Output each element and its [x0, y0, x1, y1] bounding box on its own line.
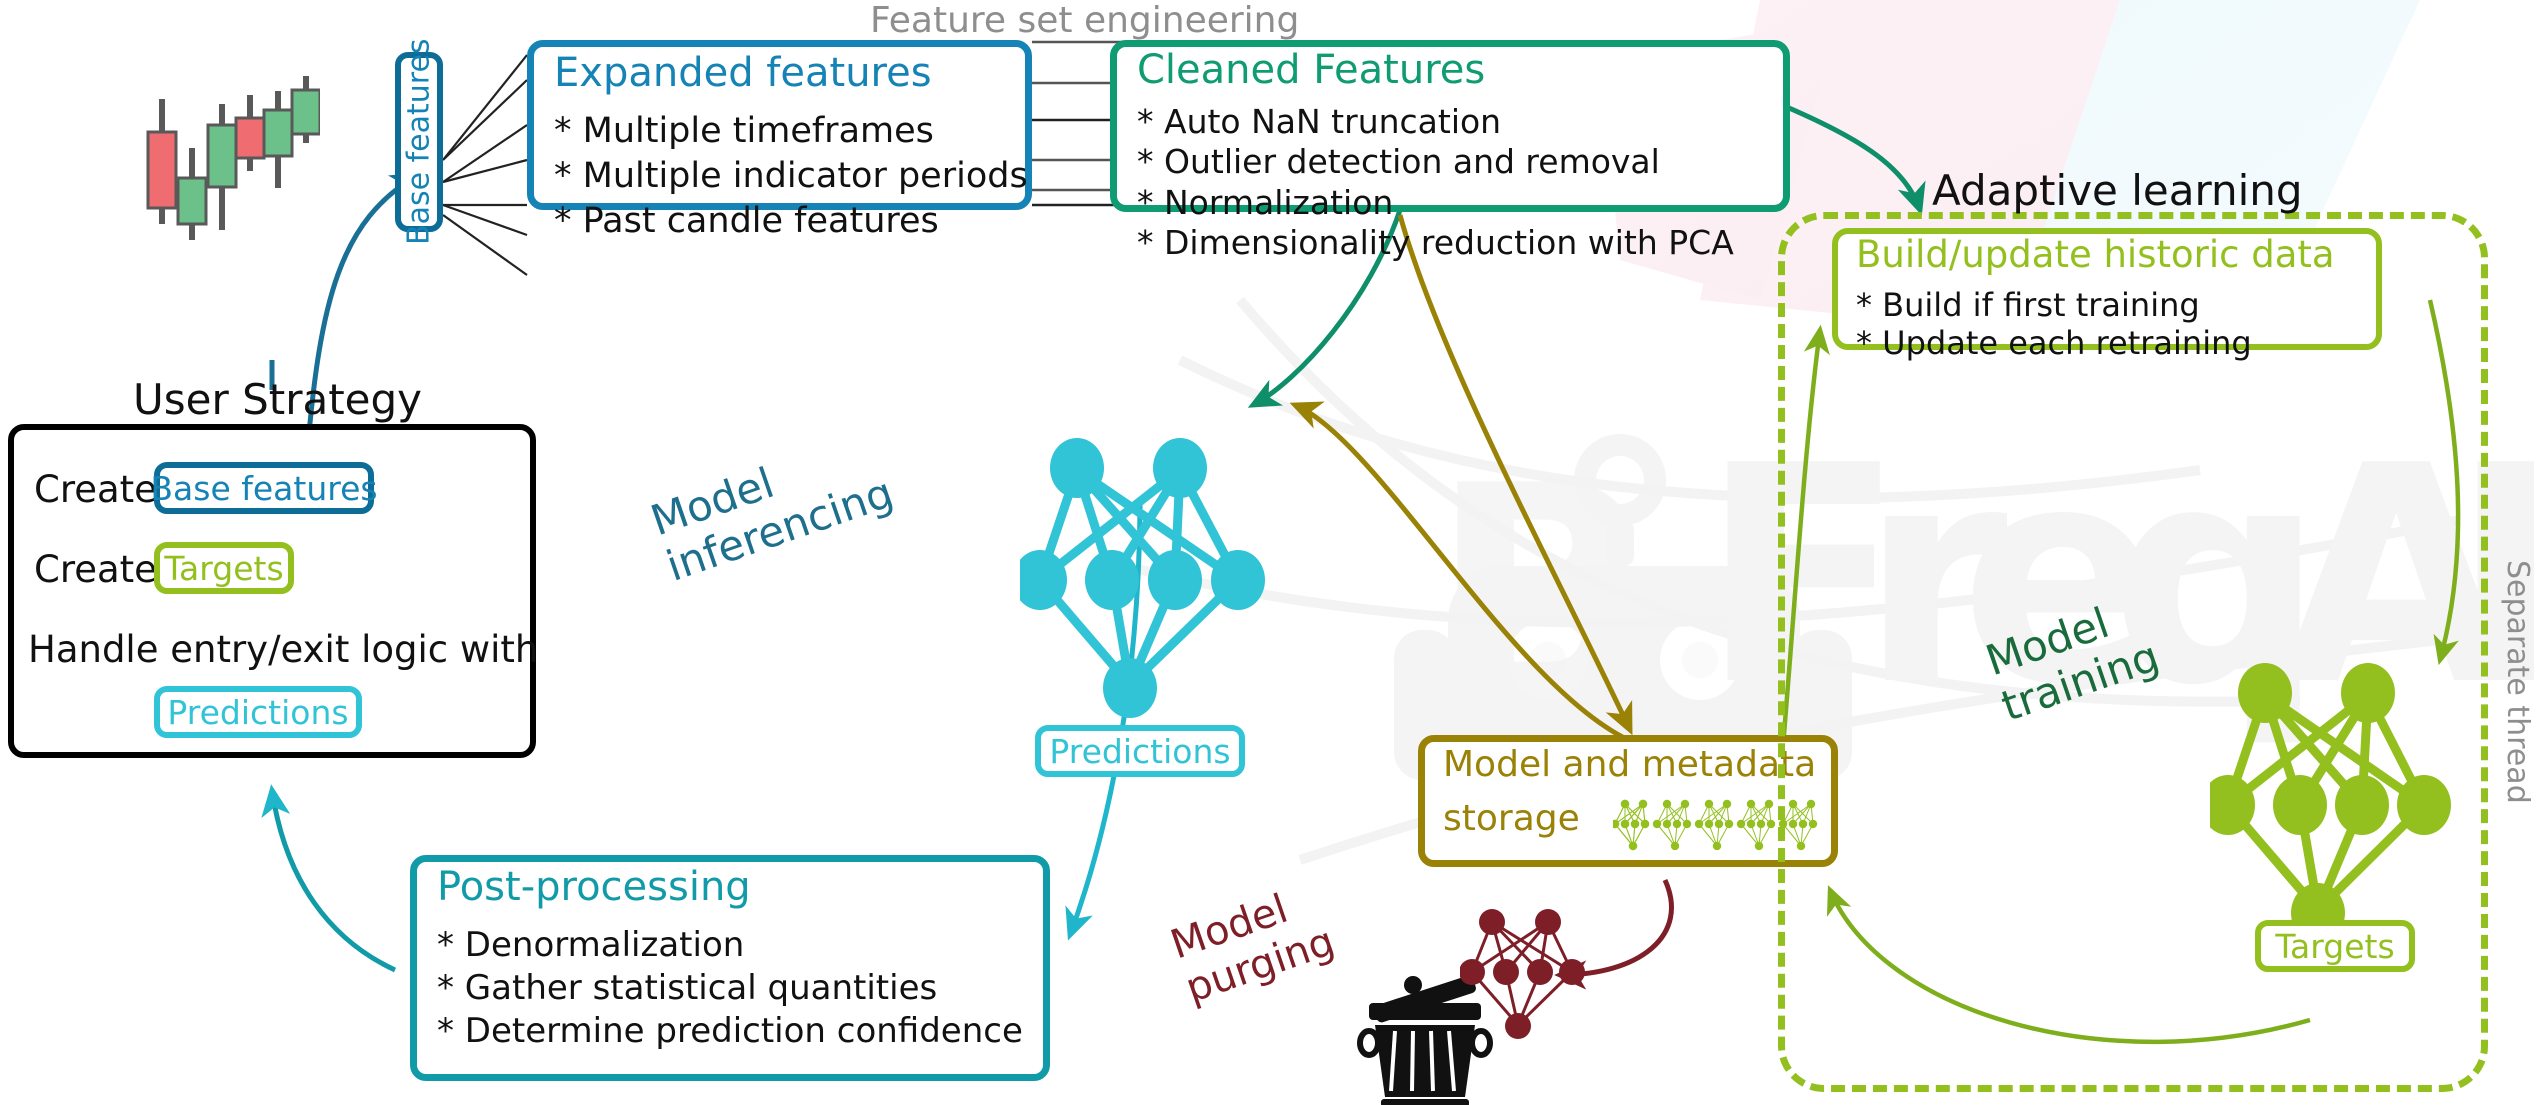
targets-pill-training: Targets: [2255, 920, 2415, 972]
expanded-features-bullets: * Multiple timeframes * Multiple indicat…: [554, 109, 1028, 243]
expanded-bullet-1: * Multiple timeframes: [554, 109, 1028, 154]
predictions-pill-strategy: Predictions: [154, 686, 362, 738]
base-features-pill-vertical: Base features: [395, 52, 443, 232]
cleaned-bullet-3: * Normalization: [1137, 183, 1734, 223]
user-strategy-title: User Strategy: [133, 375, 422, 424]
feature-set-engineering-title: Feature set engineering: [870, 0, 1299, 41]
post-processing-title: Post-processing: [437, 866, 751, 908]
targets-pill: Targets: [154, 542, 294, 594]
user-strategy-line-3: Handle entry/exit logic with: [28, 628, 538, 671]
storage-line-2: storage: [1443, 800, 1580, 838]
expanded-features-box: Expanded features * Multiple timeframes …: [527, 40, 1032, 210]
expanded-bullet-3: * Past candle features: [554, 199, 1028, 244]
user-strategy-line-2-prefix: Create: [34, 548, 157, 591]
storage-line-1: Model and metadata: [1443, 746, 1816, 784]
cleaned-bullet-4: * Dimensionality reduction with PCA: [1137, 223, 1734, 263]
candlestick-chart-icon: [140, 60, 320, 260]
cleaned-features-box: Cleaned Features * Auto NaN truncation *…: [1110, 40, 1790, 212]
post-bullet-2: * Gather statistical quantities: [437, 967, 1023, 1010]
build-update-historic-data-box: Build/update historic data * Build if fi…: [1832, 228, 2382, 350]
base-features-pill: Base features: [154, 462, 374, 514]
user-strategy-line-1-prefix: Create: [34, 468, 157, 511]
post-processing-bullets: * Denormalization * Gather statistical q…: [437, 924, 1023, 1052]
post-bullet-1: * Denormalization: [437, 924, 1023, 967]
expanded-features-title: Expanded features: [554, 52, 932, 94]
user-strategy-box: Create Base features Create Targets Hand…: [8, 424, 536, 758]
build-bullet-2: * Update each retraining: [1856, 324, 2252, 362]
cleaned-bullet-1: * Auto NaN truncation: [1137, 102, 1734, 142]
cleaned-features-title: Cleaned Features: [1137, 49, 1485, 91]
build-update-title: Build/update historic data: [1856, 236, 2335, 275]
build-bullet-1: * Build if first training: [1856, 286, 2252, 324]
cleaned-bullet-2: * Outlier detection and removal: [1137, 142, 1734, 182]
predictions-pill: Predictions: [1035, 725, 1245, 777]
adaptive-learning-title: Adaptive learning: [1932, 166, 2303, 215]
post-processing-box: Post-processing * Denormalization * Gath…: [410, 855, 1050, 1081]
expanded-bullet-2: * Multiple indicator periods: [554, 154, 1028, 199]
post-bullet-3: * Determine prediction confidence: [437, 1010, 1023, 1053]
build-update-bullets: * Build if first training * Update each …: [1856, 286, 2252, 363]
neural-network-icon-purged: [1460, 900, 1600, 1080]
diagram-canvas: B F r e q A I: [0, 0, 2539, 1104]
model-metadata-storage-box: Model and metadata storage: [1418, 735, 1838, 867]
cleaned-features-bullets: * Auto NaN truncation * Outlier detectio…: [1137, 102, 1734, 263]
separate-thread-label: Separate thread: [2500, 560, 2535, 804]
